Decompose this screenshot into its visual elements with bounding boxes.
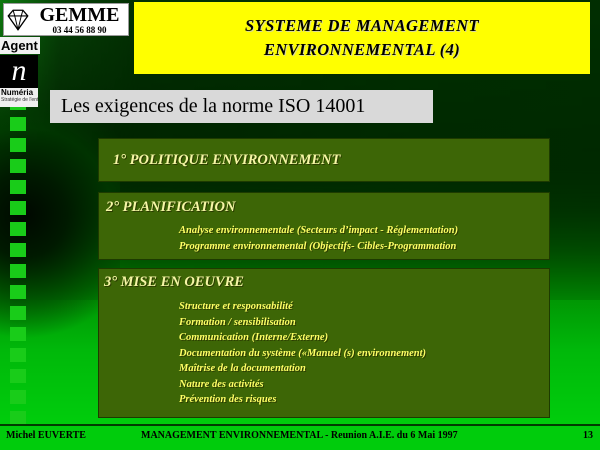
rail-square — [10, 369, 26, 383]
rail-square — [10, 180, 26, 194]
rail-square — [10, 117, 26, 131]
content-box-item: Prévention des risques — [179, 392, 549, 408]
rail-square — [10, 222, 26, 236]
numeria-name: Numéria — [0, 88, 38, 97]
agent-label: Agent — [0, 37, 40, 54]
content-box-items: Analyse environnementale (Secteurs d’imp… — [99, 216, 549, 254]
content-box-planification: 2° PLANIFICATION Analyse environnemental… — [98, 192, 550, 260]
content-box-item: Communication (Interne/Externe) — [179, 330, 549, 346]
footer-subject: MANAGEMENT ENVIRONNEMENTAL - Reunion A.I… — [141, 430, 458, 441]
rail-square — [10, 285, 26, 299]
rail-square — [10, 411, 26, 425]
rail-square — [10, 264, 26, 278]
footer-page-number: 13 — [583, 430, 593, 441]
decorative-square-rail — [10, 96, 26, 450]
slide-footer: Michel EUVERTE MANAGEMENT ENVIRONNEMENTA… — [0, 426, 600, 450]
gemme-phone: 03 44 56 88 90 — [31, 26, 128, 35]
slide-title-line-1: SYSTEME DE MANAGEMENT — [245, 14, 479, 38]
slide-title-banner: SYSTEME DE MANAGEMENT ENVIRONNEMENTAL (4… — [134, 2, 590, 74]
gemme-logo: GEMME 03 44 56 88 90 — [3, 3, 129, 36]
content-box-item: Maîtrise de la documentation — [179, 361, 549, 377]
content-box-politique: 1° POLITIQUE ENVIRONNEMENT — [98, 138, 550, 182]
slide-title-line-2: ENVIRONNEMENTAL (4) — [264, 38, 460, 62]
content-box-mise-en-oeuvre: 3° MISE EN OEUVRE Structure et responsab… — [98, 268, 550, 418]
slide-canvas: GEMME 03 44 56 88 90 Agent n Numéria Str… — [0, 0, 600, 450]
rail-square — [10, 348, 26, 362]
slide-subtitle-box: Les exigences de la norme ISO 14001 — [50, 90, 433, 123]
content-box-heading: 2° PLANIFICATION — [99, 193, 549, 216]
rail-square — [10, 306, 26, 320]
rail-square — [10, 159, 26, 173]
gemme-name: GEMME — [31, 5, 128, 25]
slide-subtitle-text: Les exigences de la norme ISO 14001 — [50, 95, 365, 118]
gemme-logo-text: GEMME 03 44 56 88 90 — [31, 5, 128, 35]
content-box-heading: 1° POLITIQUE ENVIRONNEMENT — [99, 139, 549, 169]
footer-author: Michel EUVERTE — [6, 430, 86, 441]
numeria-tagline: Stratégie de l'entreprise — [0, 97, 38, 103]
diamond-icon — [5, 7, 31, 33]
rail-square — [10, 243, 26, 257]
content-box-item: Formation / sensibilisation — [179, 315, 549, 331]
content-box-item: Analyse environnementale (Secteurs d’imp… — [179, 223, 549, 239]
content-box-item: Nature des activités — [179, 377, 549, 393]
numeria-monogram: n — [0, 55, 38, 88]
agent-label-box: Agent — [0, 37, 40, 54]
rail-square — [10, 138, 26, 152]
content-box-item: Programme environnemental (Objectifs- Ci… — [179, 239, 549, 255]
content-box-heading: 3° MISE EN OEUVRE — [99, 269, 549, 291]
rail-square — [10, 327, 26, 341]
rail-square — [10, 201, 26, 215]
content-box-items: Structure et responsabilitéFormation / s… — [99, 291, 549, 408]
numeria-logo: n Numéria Stratégie de l'entreprise — [0, 55, 38, 107]
content-box-item: Documentation du système («Manuel (s) en… — [179, 346, 549, 362]
rail-square — [10, 390, 26, 404]
content-box-item: Structure et responsabilité — [179, 299, 549, 315]
